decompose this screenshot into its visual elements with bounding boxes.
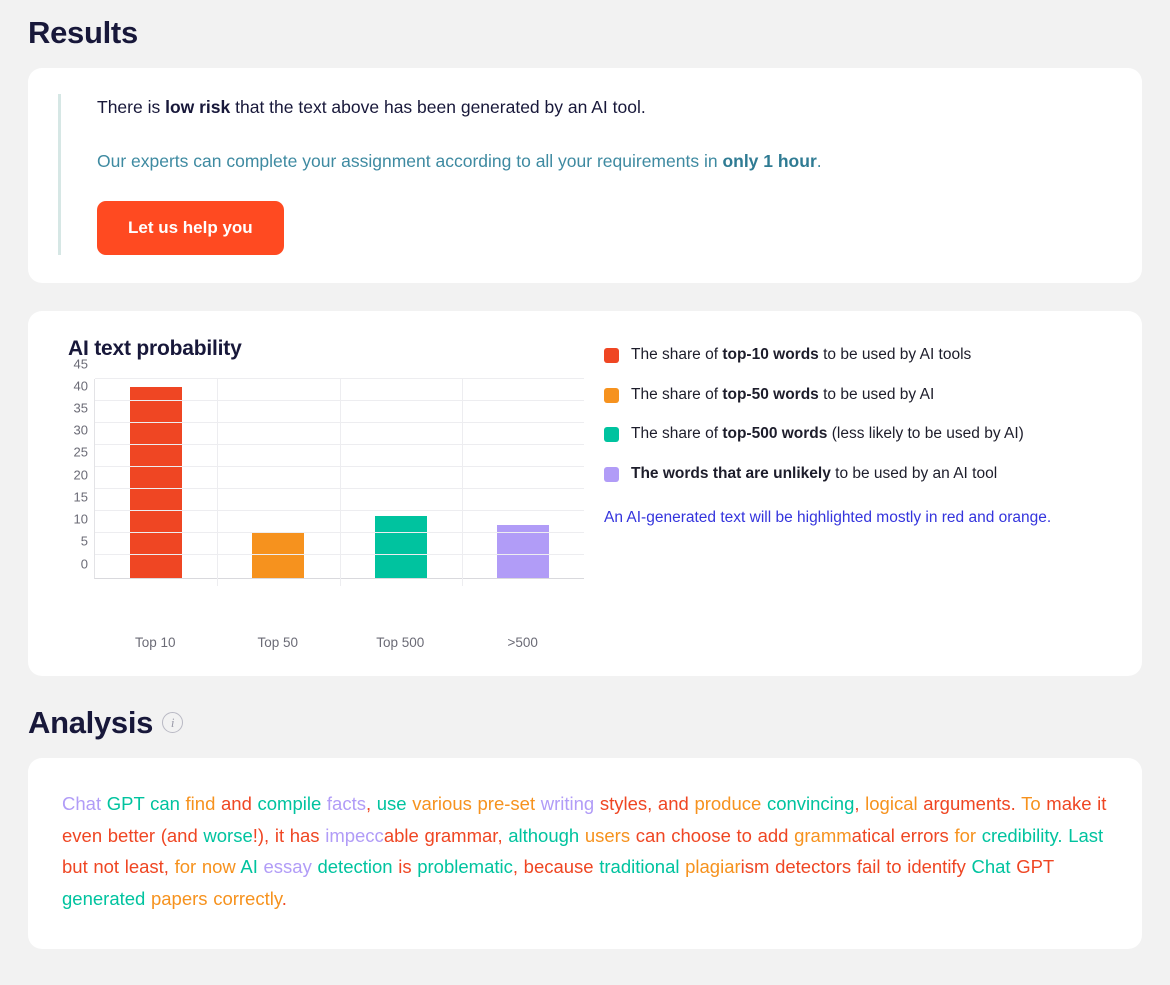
- analysis-token: ,: [497, 825, 502, 846]
- analysis-token: essay: [264, 856, 312, 877]
- analysis-token: gramm: [794, 825, 852, 846]
- results-inner: There is low risk that the text above ha…: [58, 94, 1112, 255]
- analysis-header: Analysis i: [28, 706, 1142, 740]
- risk-prefix: There is: [97, 97, 165, 117]
- legend-item-1[interactable]: The share of top-10 words to be used by …: [604, 345, 1112, 366]
- analysis-token: various: [412, 793, 472, 814]
- analysis-token: ism: [741, 856, 770, 877]
- y-tick-label: 10: [74, 512, 88, 527]
- bar-chart-plot: 051015202530354045: [64, 379, 584, 619]
- ai-probability-chart-card: AI text probability 051015202530354045 T…: [28, 311, 1142, 676]
- analysis-token: grammar: [424, 825, 497, 846]
- results-page: Results There is low risk that the text …: [0, 16, 1170, 985]
- experts-highlight: only 1 hour: [722, 151, 816, 171]
- x-tick-label: Top 50: [217, 635, 340, 650]
- analysis-token: Chat: [62, 793, 101, 814]
- bar-top-500[interactable]: [375, 516, 427, 578]
- let-us-help-you-button[interactable]: Let us help you: [97, 201, 284, 255]
- analysis-token: add: [758, 825, 789, 846]
- analysis-token: and: [658, 793, 689, 814]
- analysis-token: AI: [240, 856, 257, 877]
- y-tick-label: 5: [81, 534, 88, 549]
- analysis-highlighted-text: Chat GPT can find and compile facts, use…: [62, 788, 1108, 915]
- y-tick-label: 45: [74, 356, 88, 371]
- analysis-token: for: [954, 825, 976, 846]
- analysis-token: and: [221, 793, 252, 814]
- y-tick-label: 25: [74, 445, 88, 460]
- analysis-token: To: [1021, 793, 1041, 814]
- analysis-token: better: [108, 825, 155, 846]
- experts-prefix: Our experts can complete your assignment…: [97, 151, 722, 171]
- vertical-gridline: [340, 379, 341, 586]
- analysis-token: GPT: [1016, 856, 1054, 877]
- legend-swatch-icon: [604, 388, 619, 403]
- analysis-token: identify: [907, 856, 966, 877]
- experts-suffix: .: [817, 151, 822, 171]
- analysis-token: errors: [901, 825, 949, 846]
- bar-top-50[interactable]: [252, 533, 304, 577]
- analysis-token: facts: [327, 793, 366, 814]
- y-tick-label: 20: [74, 467, 88, 482]
- bar-slot: [95, 379, 217, 578]
- y-tick-label: 35: [74, 401, 88, 416]
- analysis-token: atical: [852, 825, 895, 846]
- plot-area: [94, 379, 584, 579]
- legend-label: The share of top-500 words (less likely …: [631, 424, 1024, 445]
- analysis-token: correctly: [213, 888, 282, 909]
- analysis-token: can: [150, 793, 180, 814]
- analysis-token: convincing: [767, 793, 854, 814]
- legend-label: The share of top-50 words to be used by …: [631, 385, 934, 406]
- analysis-token: but: [62, 856, 88, 877]
- page-title: Results: [28, 16, 1142, 50]
- analysis-token: writing: [541, 793, 594, 814]
- analysis-token: credibility.: [982, 825, 1063, 846]
- legend-label: The share of top-10 words to be used by …: [631, 345, 971, 366]
- risk-statement: There is low risk that the text above ha…: [97, 94, 1112, 120]
- vertical-gridline: [217, 379, 218, 586]
- analysis-token: even: [62, 825, 102, 846]
- y-tick-label: 0: [81, 556, 88, 571]
- analysis-token: worse: [203, 825, 252, 846]
- info-icon[interactable]: i: [162, 712, 183, 733]
- analysis-token: styles: [600, 793, 647, 814]
- analysis-token: compile: [258, 793, 322, 814]
- y-tick-label: 40: [74, 378, 88, 393]
- analysis-token: it: [1097, 793, 1106, 814]
- analysis-token: (and: [161, 825, 198, 846]
- results-card: There is low risk that the text above ha…: [28, 68, 1142, 283]
- analysis-token: to: [737, 825, 752, 846]
- legend-item-3[interactable]: The share of top-500 words (less likely …: [604, 424, 1112, 445]
- x-tick-label: Top 10: [94, 635, 217, 650]
- chart-legend: The share of top-10 words to be used by …: [604, 337, 1112, 650]
- analysis-token: logical: [865, 793, 917, 814]
- analysis-card: Chat GPT can find and compile facts, use…: [28, 758, 1142, 949]
- analysis-token: !),: [253, 825, 269, 846]
- legend-item-2[interactable]: The share of top-50 words to be used by …: [604, 385, 1112, 406]
- analysis-token: users: [585, 825, 630, 846]
- analysis-token: make: [1046, 793, 1091, 814]
- analysis-token: traditional: [599, 856, 679, 877]
- analysis-token: .: [282, 888, 287, 909]
- bar-slot: [217, 379, 339, 578]
- analysis-token: choose: [671, 825, 731, 846]
- analysis-token: find: [186, 793, 216, 814]
- analysis-token: to: [886, 856, 901, 877]
- analysis-token: now: [202, 856, 236, 877]
- analysis-token: detectors: [775, 856, 851, 877]
- analysis-token: pre-set: [478, 793, 536, 814]
- analysis-token: ,: [366, 793, 371, 814]
- analysis-token: it: [275, 825, 284, 846]
- analysis-token: use: [377, 793, 407, 814]
- legend-item-4[interactable]: The words that are unlikely to be used b…: [604, 464, 1112, 485]
- analysis-token: able: [384, 825, 419, 846]
- analysis-token: ,: [647, 793, 652, 814]
- y-tick-label: 30: [74, 423, 88, 438]
- analysis-token: although: [508, 825, 579, 846]
- analysis-token: plagiar: [685, 856, 741, 877]
- legend-note: An AI-generated text will be highlighted…: [604, 504, 1094, 532]
- experts-statement: Our experts can complete your assignment…: [97, 148, 1112, 174]
- x-axis-labels: Top 10Top 50Top 500>500: [94, 635, 584, 650]
- x-tick-label: >500: [462, 635, 585, 650]
- x-tick-label: Top 500: [339, 635, 462, 650]
- chart-title: AI text probability: [68, 337, 584, 361]
- analysis-token: papers: [151, 888, 208, 909]
- analysis-token: can: [636, 825, 666, 846]
- analysis-token: problematic: [417, 856, 513, 877]
- y-axis: 051015202530354045: [64, 379, 94, 579]
- analysis-token: produce: [694, 793, 761, 814]
- analysis-token: detection: [317, 856, 392, 877]
- bar-top-10[interactable]: [130, 387, 182, 577]
- legend-label: The words that are unlikely to be used b…: [631, 464, 997, 485]
- bar-slot: [340, 379, 462, 578]
- analysis-token: not: [93, 856, 119, 877]
- analysis-token: Last: [1068, 825, 1103, 846]
- analysis-token: for: [175, 856, 197, 877]
- analysis-token: impecc: [325, 825, 384, 846]
- analysis-token: arguments.: [923, 793, 1016, 814]
- y-tick-label: 15: [74, 489, 88, 504]
- risk-suffix: that the text above has been generated b…: [230, 97, 645, 117]
- analysis-token: ,: [164, 856, 169, 877]
- legend-swatch-icon: [604, 348, 619, 363]
- bar-slot: [462, 379, 584, 578]
- analysis-token: because: [524, 856, 594, 877]
- analysis-token: least: [125, 856, 164, 877]
- analysis-token: ,: [513, 856, 518, 877]
- analysis-token: is: [398, 856, 411, 877]
- analysis-token: generated: [62, 888, 145, 909]
- analysis-token: has: [290, 825, 320, 846]
- analysis-token: Chat: [971, 856, 1010, 877]
- analysis-token: fail: [857, 856, 881, 877]
- analysis-title: Analysis: [28, 706, 153, 740]
- legend-swatch-icon: [604, 467, 619, 482]
- vertical-gridline: [462, 379, 463, 586]
- analysis-token: GPT: [107, 793, 145, 814]
- analysis-token: ,: [854, 793, 859, 814]
- risk-level: low risk: [165, 97, 230, 117]
- legend-swatch-icon: [604, 427, 619, 442]
- chart-container: AI text probability 051015202530354045 T…: [64, 337, 584, 650]
